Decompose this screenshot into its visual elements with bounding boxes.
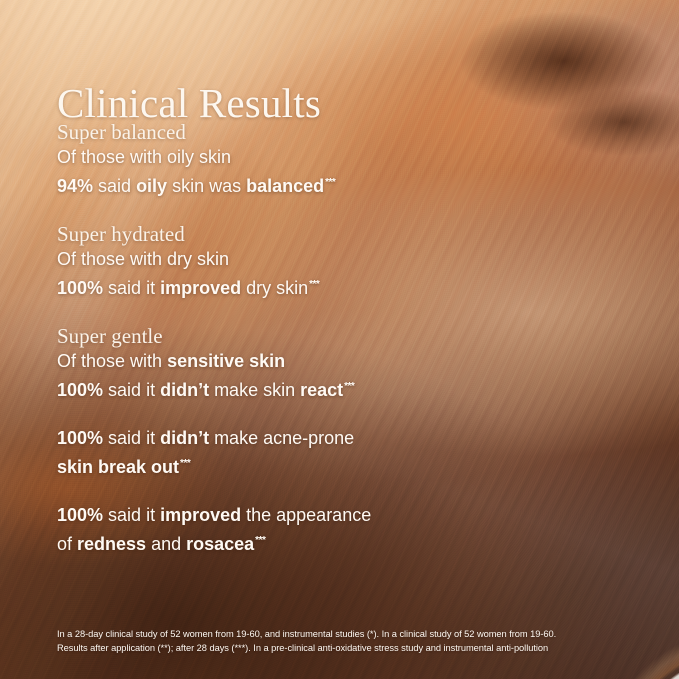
plain-text: and bbox=[146, 534, 186, 554]
emphasis-text: sensitive skin bbox=[167, 351, 285, 371]
plain-text: said it bbox=[103, 278, 160, 298]
result-block-heading: Super hydrated bbox=[57, 222, 617, 247]
plain-text: said it bbox=[103, 380, 160, 400]
footnote-line: Results after application (**); after 28… bbox=[57, 642, 637, 656]
result-block-heading: Super gentle bbox=[57, 324, 617, 349]
emphasis-text: oily bbox=[136, 176, 167, 196]
result-line: 100% said it improved the appearance bbox=[57, 503, 617, 528]
emphasis-text: rosacea bbox=[186, 534, 254, 554]
plain-text: said bbox=[93, 176, 136, 196]
emphasis-text: 100% bbox=[57, 505, 103, 525]
plain-text: of bbox=[57, 534, 77, 554]
result-line: 100% said it didn’t make acne-prone bbox=[57, 426, 617, 451]
emphasis-text: 100% bbox=[57, 428, 103, 448]
result-line: Of those with sensitive skin bbox=[57, 349, 617, 374]
plain-text: skin was bbox=[167, 176, 246, 196]
emphasis-text: didn’t bbox=[160, 380, 209, 400]
result-block: Super gentleOf those with sensitive skin… bbox=[57, 324, 617, 403]
result-line: 94% said oily skin was balanced*** bbox=[57, 170, 617, 199]
result-line: of redness and rosacea*** bbox=[57, 528, 617, 557]
clinical-results-graphic: Clinical Results Super balancedOf those … bbox=[0, 0, 679, 679]
plain-text: make skin bbox=[209, 380, 300, 400]
footnote-marker: *** bbox=[255, 535, 265, 546]
plain-text: make acne-prone bbox=[209, 428, 354, 448]
emphasis-text: balanced bbox=[246, 176, 324, 196]
result-line: 100% said it didn’t make skin react*** bbox=[57, 374, 617, 403]
footnote-line: In a 28-day clinical study of 52 women f… bbox=[57, 628, 637, 642]
result-block: Super balancedOf those with oily skin94%… bbox=[57, 120, 617, 199]
plain-text: said it bbox=[103, 505, 160, 525]
result-line: 100% said it improved dry skin*** bbox=[57, 272, 617, 301]
result-line: Of those with dry skin bbox=[57, 247, 617, 272]
footnote-marker: *** bbox=[325, 177, 335, 188]
result-line: skin break out*** bbox=[57, 451, 617, 480]
footnote-marker: *** bbox=[344, 381, 354, 392]
emphasis-text: 100% bbox=[57, 278, 103, 298]
plain-text: the appearance bbox=[241, 505, 371, 525]
plain-text: Of those with bbox=[57, 351, 167, 371]
result-line: Of those with oily skin bbox=[57, 145, 617, 170]
result-block-heading: Super balanced bbox=[57, 120, 617, 145]
clinical-results-list: Super balancedOf those with oily skin94%… bbox=[57, 120, 617, 580]
plain-text: dry skin bbox=[241, 278, 308, 298]
emphasis-text: improved bbox=[160, 278, 241, 298]
content-overlay: Clinical Results Super balancedOf those … bbox=[0, 0, 679, 679]
emphasis-text: didn’t bbox=[160, 428, 209, 448]
footnote-disclaimer: In a 28-day clinical study of 52 women f… bbox=[57, 628, 637, 655]
emphasis-text: 100% bbox=[57, 380, 103, 400]
result-block: 100% said it didn’t make acne-proneskin … bbox=[57, 426, 617, 480]
result-block: Super hydratedOf those with dry skin100%… bbox=[57, 222, 617, 301]
plain-text: said it bbox=[103, 428, 160, 448]
plain-text: Of those with dry skin bbox=[57, 249, 229, 269]
emphasis-text: redness bbox=[77, 534, 146, 554]
emphasis-text: 94% bbox=[57, 176, 93, 196]
emphasis-text: react bbox=[300, 380, 343, 400]
footnote-marker: *** bbox=[180, 458, 190, 469]
emphasis-text: improved bbox=[160, 505, 241, 525]
emphasis-text: skin break out bbox=[57, 457, 179, 477]
result-block: 100% said it improved the appearanceof r… bbox=[57, 503, 617, 557]
plain-text: Of those with oily skin bbox=[57, 147, 231, 167]
footnote-marker: *** bbox=[309, 279, 319, 290]
